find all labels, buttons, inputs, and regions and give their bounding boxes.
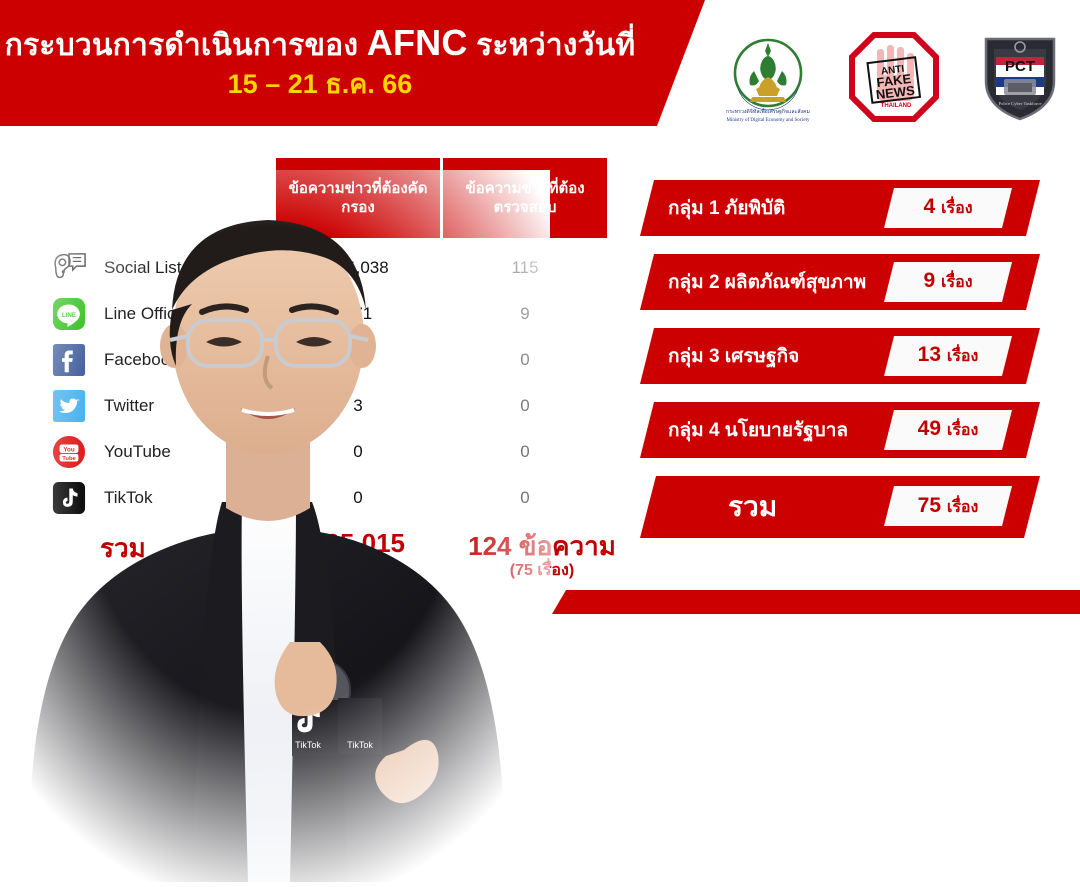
- table-row: TikTok 0 0: [30, 475, 630, 521]
- category-value-box: 13 เรื่อง: [884, 336, 1012, 376]
- pct-police-cyber-taskforce-logo: PCT Police Cyber Taskforce: [970, 27, 1070, 127]
- table-row: LINE Line Official 971 9: [30, 291, 630, 337]
- category-label: กลุ่ม 1 ภัยพิบัติ: [668, 193, 785, 223]
- table-row-label: Facebook: [104, 350, 179, 370]
- category-value-box: 49 เรื่อง: [884, 410, 1012, 450]
- svg-text:TikTok: TikTok: [347, 740, 373, 750]
- category-summary-panel: กลุ่ม 1 ภัยพิบัติ 4 เรื่อง กลุ่ม 2 ผลิตภ…: [640, 180, 1060, 556]
- logo-line-pct: PCT: [1005, 58, 1035, 75]
- svg-text:LINE: LINE: [62, 312, 76, 319]
- table-cell-filter: 3: [275, 350, 441, 370]
- category-label: กลุ่ม 4 นโยบายรัฐบาล: [668, 415, 848, 445]
- category-label: กลุ่ม 3 เศรษฐกิจ: [668, 341, 799, 371]
- category-total-value: 75 เรื่อง: [918, 494, 979, 520]
- category-bar-group-3[interactable]: กลุ่ม 3 เศรษฐกิจ 13 เรื่อง: [640, 328, 1060, 384]
- ministry-of-digital-economy-and-society-logo: กระทรวงดิจิทัลเพื่อเศรษฐกิจและสังคม Mini…: [718, 27, 818, 127]
- decorative-bottom-bar: [552, 590, 1080, 614]
- table-total-label: รวม: [100, 528, 146, 569]
- table-row-label: TikTok: [104, 488, 153, 508]
- table-cell-verify: 0: [442, 350, 608, 370]
- table-cell-verify: 0: [442, 488, 608, 508]
- table-row: Twitter 3 0: [30, 383, 630, 429]
- category-value: 9 เรื่อง: [923, 269, 972, 295]
- table-total-row: รวม 105,015 124 ข้อความ (75 เรื่อง): [30, 522, 630, 578]
- table-cell-filter: 0: [275, 442, 441, 462]
- page-title: กระบวนการดำเนินการของ AFNC ระหว่างวันที่: [0, 22, 640, 64]
- table-row: Facebook 3 0: [30, 337, 630, 383]
- twitter-icon: [48, 387, 90, 425]
- table-column-header-filter-label: ข้อความข่าวที่ต้องคัดกรอง: [284, 179, 432, 217]
- svg-text:Tube: Tube: [62, 456, 76, 462]
- table-row: You Tube YouTube 0 0: [30, 429, 630, 475]
- table-total-filter: 105,015: [275, 528, 441, 559]
- logo-line-thailand: THAILAND: [881, 103, 912, 109]
- table-row-label: Twitter: [104, 396, 154, 416]
- logo-caption-th: กระทรวงดิจิทัลเพื่อเศรษฐกิจและสังคม: [726, 108, 810, 115]
- line-icon: LINE: [48, 295, 90, 333]
- table-cell-verify: 115: [442, 258, 608, 278]
- table-cell-verify: 0: [442, 396, 608, 416]
- facebook-icon: [48, 341, 90, 379]
- logo-line-taskforce: Police Cyber Taskforce: [999, 101, 1042, 106]
- category-bar-group-2[interactable]: กลุ่ม 2 ผลิตภัณฑ์สุขภาพ 9 เรื่อง: [640, 254, 1060, 310]
- date-range: 15 – 21 ธ.ค. 66: [0, 62, 640, 105]
- page-title-suffix: ระหว่างวันที่: [468, 29, 636, 62]
- social-listening-icon: [48, 249, 90, 287]
- anti-fake-news-thailand-logo: ANTI FAKE NEWS THAILAND: [844, 27, 944, 127]
- logo-caption-en: Ministry of Digital Economy and Society: [727, 118, 810, 123]
- category-value-box: 9 เรื่อง: [884, 262, 1012, 302]
- table-total-verify-sub: (75 เรื่อง): [442, 558, 642, 583]
- category-value: 4 เรื่อง: [923, 195, 972, 221]
- table-column-header-verify: ข้อความข่าวที่ต้องตรวจสอบ: [442, 157, 608, 239]
- table-cell-filter: 3: [275, 396, 441, 416]
- table-row-label: Line Official: [104, 304, 193, 324]
- category-value: 49 เรื่อง: [918, 417, 979, 443]
- category-total-value-box: 75 เรื่อง: [884, 486, 1012, 528]
- tiktok-icon: [48, 479, 90, 517]
- table-cell-verify: 9: [442, 304, 608, 324]
- category-label: กลุ่ม 2 ผลิตภัณฑ์สุขภาพ: [668, 267, 866, 297]
- svg-text:You: You: [63, 447, 74, 454]
- table-row-label: YouTube: [104, 442, 171, 462]
- table-row: Social Listening 104,038 115: [30, 245, 630, 291]
- youtube-icon: You Tube: [48, 433, 90, 471]
- table-row-label: Social Listening: [104, 258, 223, 278]
- table-column-header-verify-label: ข้อความข่าวที่ต้องตรวจสอบ: [451, 179, 599, 217]
- category-value-box: 4 เรื่อง: [884, 188, 1012, 228]
- platform-statistics-table: ข้อความข่าวที่ต้องคัดกรอง ข้อความข่าวที่…: [30, 150, 630, 590]
- table-cell-verify: 0: [442, 442, 608, 462]
- page-title-afnc: AFNC: [367, 22, 468, 63]
- table-cell-filter: 971: [275, 304, 441, 324]
- category-bar-group-1[interactable]: กลุ่ม 1 ภัยพิบัติ 4 เรื่อง: [640, 180, 1060, 236]
- category-total-label: รวม: [728, 485, 777, 529]
- table-column-header-filter: ข้อความข่าวที่ต้องคัดกรอง: [275, 157, 441, 239]
- category-bar-total[interactable]: รวม 75 เรื่อง: [640, 476, 1060, 538]
- category-bar-group-4[interactable]: กลุ่ม 4 นโยบายรัฐบาล 49 เรื่อง: [640, 402, 1060, 458]
- category-value: 13 เรื่อง: [918, 343, 979, 369]
- table-cell-filter: 104,038: [275, 258, 441, 278]
- page-title-prefix: กระบวนการดำเนินการของ: [5, 29, 367, 62]
- svg-text:TikTok: TikTok: [295, 740, 321, 750]
- table-cell-filter: 0: [275, 488, 441, 508]
- logo-group: กระทรวงดิจิทัลเพื่อเศรษฐกิจและสังคม Mini…: [718, 24, 1070, 130]
